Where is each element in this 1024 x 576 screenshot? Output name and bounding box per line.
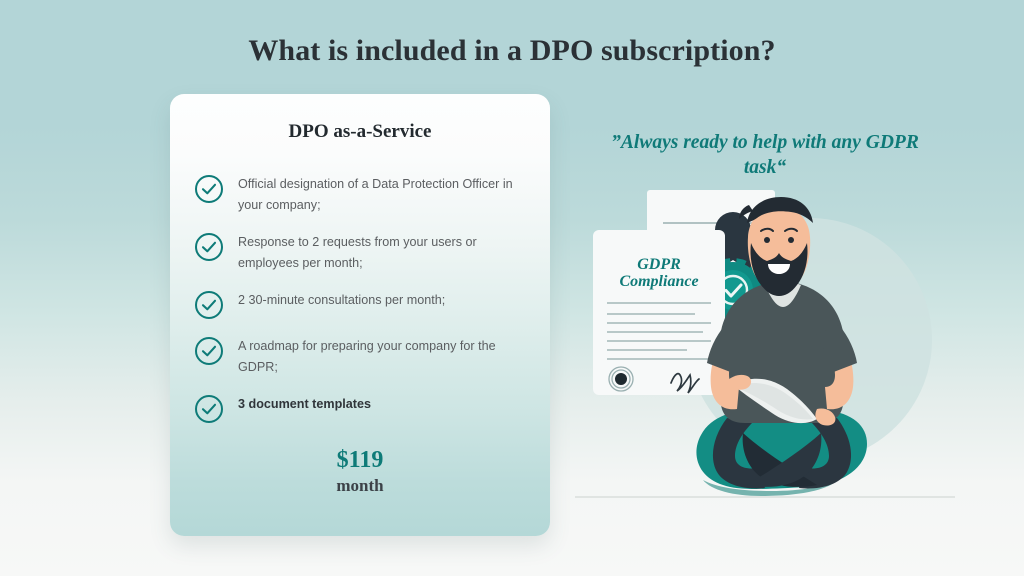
- feature-text: A roadmap for preparing your company for…: [238, 334, 534, 378]
- price-amount: $119: [170, 446, 550, 474]
- card-title: DPO as-a-Service: [170, 121, 550, 143]
- check-circle-icon: [194, 232, 224, 262]
- check-circle-icon: [194, 174, 224, 204]
- list-item: Response to 2 requests from your users o…: [194, 230, 534, 274]
- list-item: 2 30-minute consultations per month;: [194, 288, 534, 320]
- check-circle-icon: [194, 394, 224, 424]
- slide-canvas: What is included in a DPO subscription? …: [0, 0, 1024, 576]
- gdpr-certificate: GDPR Compliance: [593, 230, 725, 395]
- price-period: month: [170, 474, 550, 498]
- feature-text: Official designation of a Data Protectio…: [238, 172, 534, 216]
- list-item: Official designation of a Data Protectio…: [194, 172, 534, 216]
- feature-text: 2 30-minute consultations per month;: [238, 288, 445, 311]
- check-circle-icon: [194, 336, 224, 366]
- list-item: 3 document templates: [194, 392, 534, 424]
- quote-text: ”Always ready to help with any GDPR task…: [600, 130, 930, 180]
- svg-text:GDPR: GDPR: [637, 256, 681, 273]
- price-block: $119 month: [170, 446, 550, 498]
- svg-text:Compliance: Compliance: [619, 273, 698, 290]
- check-circle-icon: [194, 290, 224, 320]
- feature-text: 3 document templates: [238, 392, 371, 415]
- pricing-card: DPO as-a-Service Official designation of…: [170, 94, 550, 536]
- list-item: A roadmap for preparing your company for…: [194, 334, 534, 378]
- feature-list: Official designation of a Data Protectio…: [194, 172, 534, 438]
- page-title: What is included in a DPO subscription?: [0, 34, 1024, 68]
- man-with-gdpr-certificate-illustration: GDPR Compliance: [575, 185, 955, 510]
- feature-text: Response to 2 requests from your users o…: [238, 230, 534, 274]
